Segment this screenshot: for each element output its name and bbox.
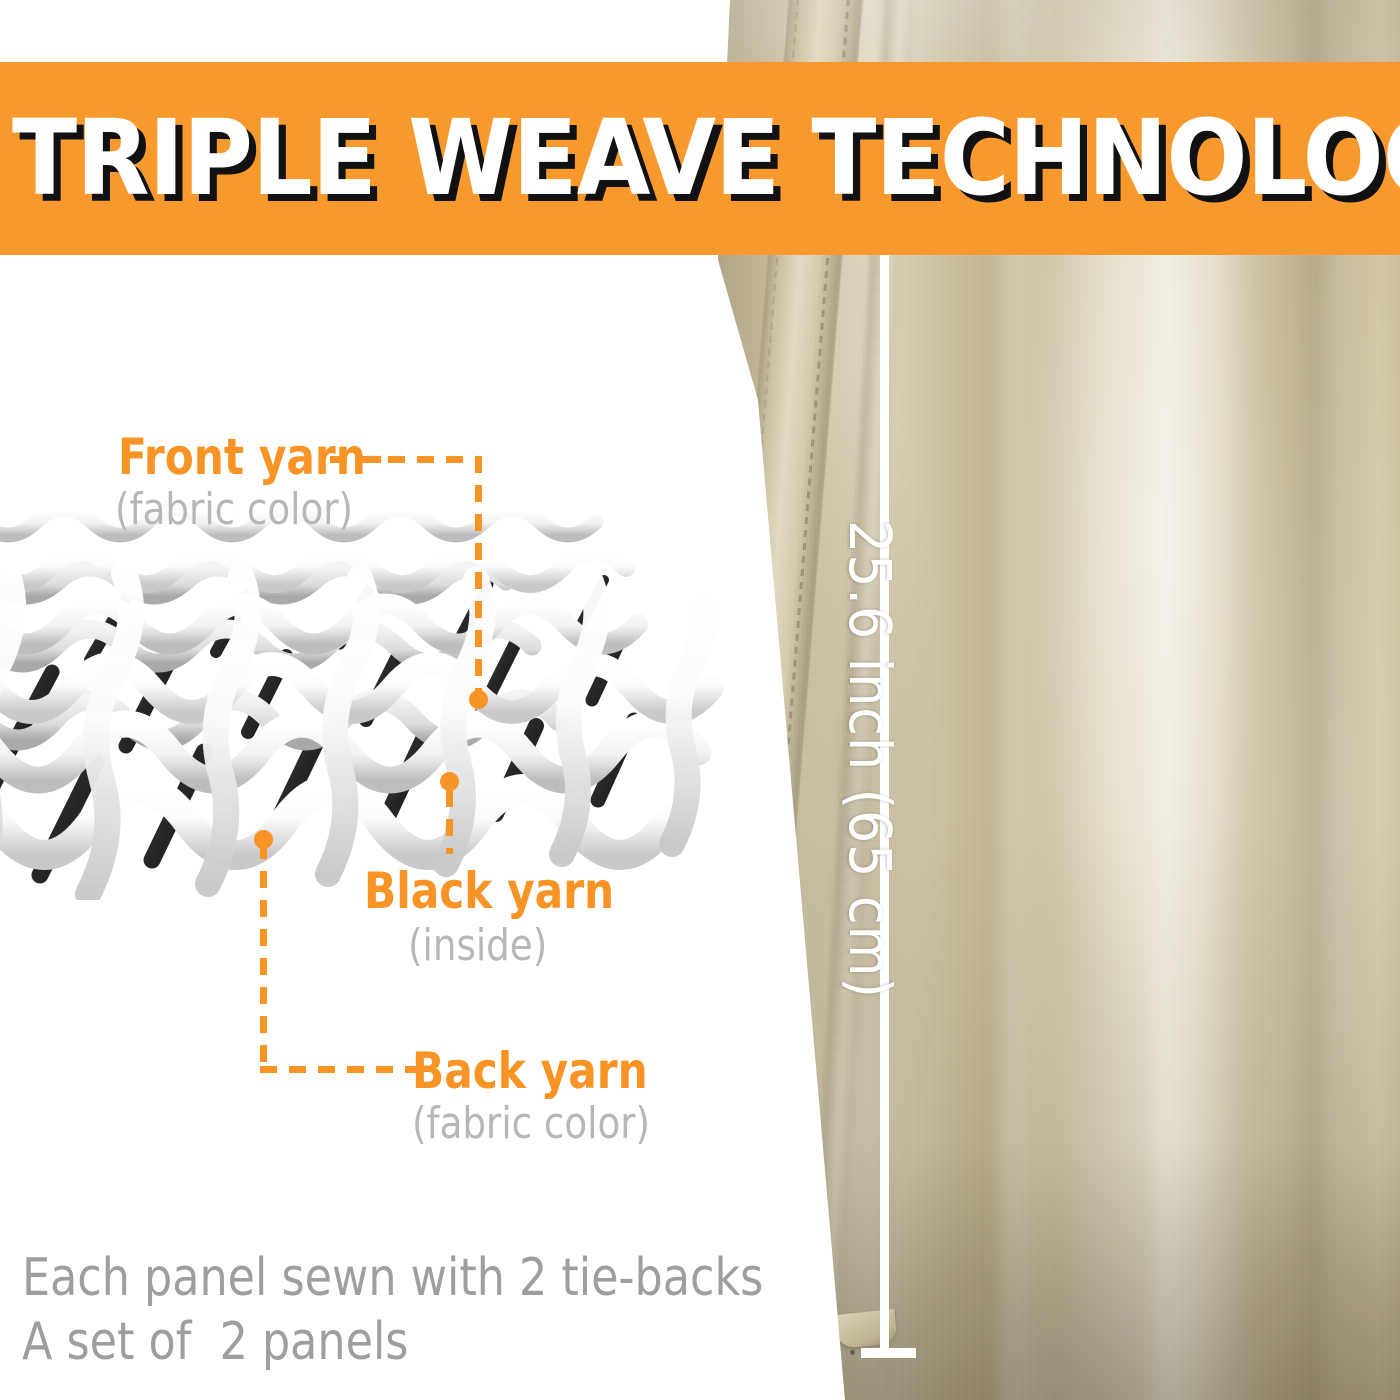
black-yarn-marker-dot [440, 772, 459, 791]
back-yarn-connector-vertical [260, 842, 267, 1074]
measurement-label: 25.6 inch (65 cm) [836, 520, 904, 999]
note-panel-set: A set of 2 panels [22, 1312, 408, 1372]
title-banner: TRIPLE WEAVE TECHNOLOGY [0, 62, 1400, 255]
measurement-end-cap [861, 1348, 916, 1358]
front-yarn-label: Front yarn- [118, 428, 383, 486]
black-yarn-label: Black yarn [364, 862, 614, 920]
back-yarn-connector-horizontal [260, 1066, 418, 1073]
back-yarn-label: Back yarn [412, 1042, 648, 1100]
back-yarn-sublabel: (fabric color) [412, 1098, 650, 1149]
black-yarn-sublabel: (inside) [408, 920, 547, 971]
black-yarn-connector-vertical [446, 790, 453, 854]
infographic-canvas: TRIPLE WEAVE TECHNOLOGY [0, 0, 1400, 1400]
front-yarn-connector-vertical [475, 456, 482, 700]
note-tie-backs: Each panel sewn with 2 tie-backs [22, 1248, 763, 1308]
front-yarn-sublabel: (fabric color) [115, 484, 353, 535]
banner-title-text: TRIPLE WEAVE TECHNOLOGY [12, 106, 1400, 210]
front-yarn-marker-dot [469, 690, 488, 709]
